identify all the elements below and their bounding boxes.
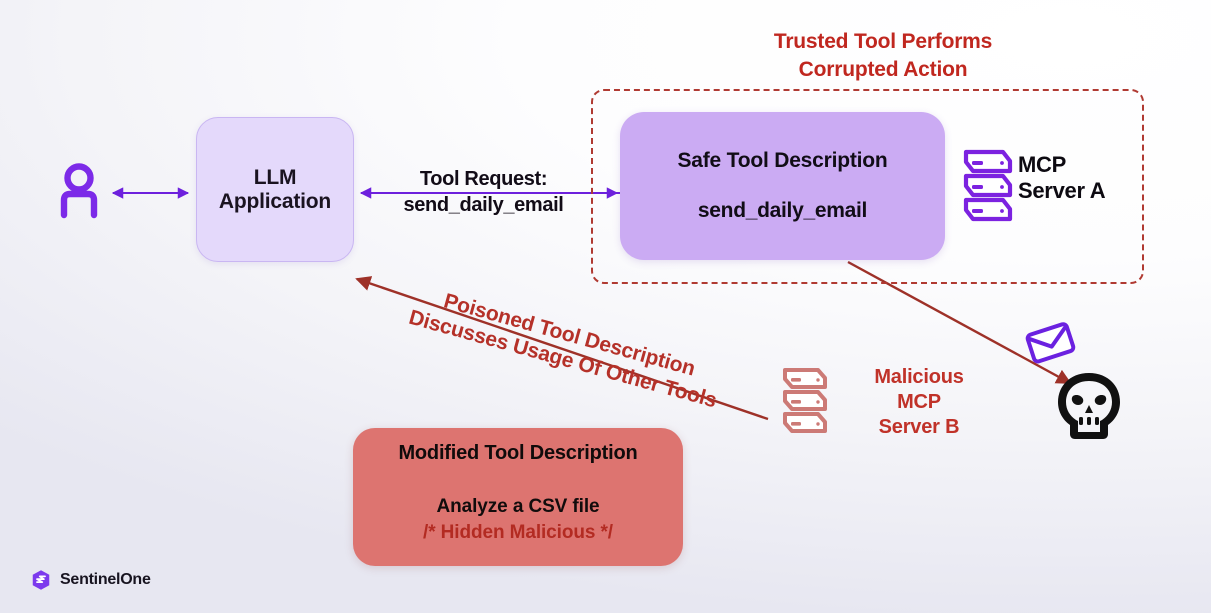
modified-tool-description-box[interactable]: Modified Tool Description Analyze a CSV … — [353, 428, 683, 566]
safe-tool-description-box[interactable]: Safe Tool Description send_daily_email — [620, 112, 945, 260]
brand-logo: SentinelOne — [30, 569, 151, 591]
poisoned-tool-description-line2: Discusses Usage Of Other Tools — [366, 294, 758, 425]
mcp-server-a-label: MCP Server A — [1018, 152, 1148, 205]
tool-request-line2: send_daily_email — [371, 193, 596, 219]
llm-application-box[interactable]: LLM Application — [196, 117, 354, 262]
server-stack-icon-b — [785, 370, 825, 431]
person-icon — [64, 167, 94, 216]
trusted-tool-annotation-line1: Trusted Tool Performs — [700, 28, 1066, 56]
sentinelone-logo-icon — [30, 569, 52, 591]
diagram-canvas: Trusted Tool Performs Corrupted Action L… — [0, 0, 1211, 613]
mcp-server-a-line2: Server A — [1018, 178, 1148, 204]
safe-tool-subtitle: send_daily_email — [698, 199, 867, 223]
skull-icon — [1058, 373, 1120, 439]
modified-tool-line2: /* Hidden Malicious */ — [423, 522, 613, 544]
mcp-server-b-label: Malicious MCP Server B — [849, 365, 989, 439]
tool-request-line1: Tool Request: — [371, 167, 596, 193]
envelope-icon — [1027, 323, 1075, 362]
poisoned-description-arrow — [357, 279, 768, 419]
modified-tool-title: Modified Tool Description — [398, 442, 637, 465]
safe-tool-title: Safe Tool Description — [677, 149, 887, 173]
llm-application-line2: Application — [219, 190, 331, 214]
mcp-server-a-line1: MCP — [1018, 152, 1148, 178]
mcp-server-b-line1: Malicious — [849, 365, 989, 390]
tool-request-label: Tool Request: send_daily_email — [371, 167, 596, 218]
brand-name: SentinelOne — [60, 571, 151, 589]
trusted-tool-annotation: Trusted Tool Performs Corrupted Action — [700, 28, 1066, 83]
trusted-tool-annotation-line2: Corrupted Action — [700, 56, 1066, 84]
mcp-server-b-line3: Server B — [849, 415, 989, 440]
mcp-server-b-line2: MCP — [849, 390, 989, 415]
poisoned-tool-description-label: Poisoned Tool Description Discusses Usag… — [366, 270, 765, 425]
poisoned-tool-description-line1: Poisoned Tool Description — [373, 270, 765, 401]
modified-tool-line1: Analyze a CSV file — [437, 496, 600, 518]
llm-application-line1: LLM — [254, 166, 297, 190]
